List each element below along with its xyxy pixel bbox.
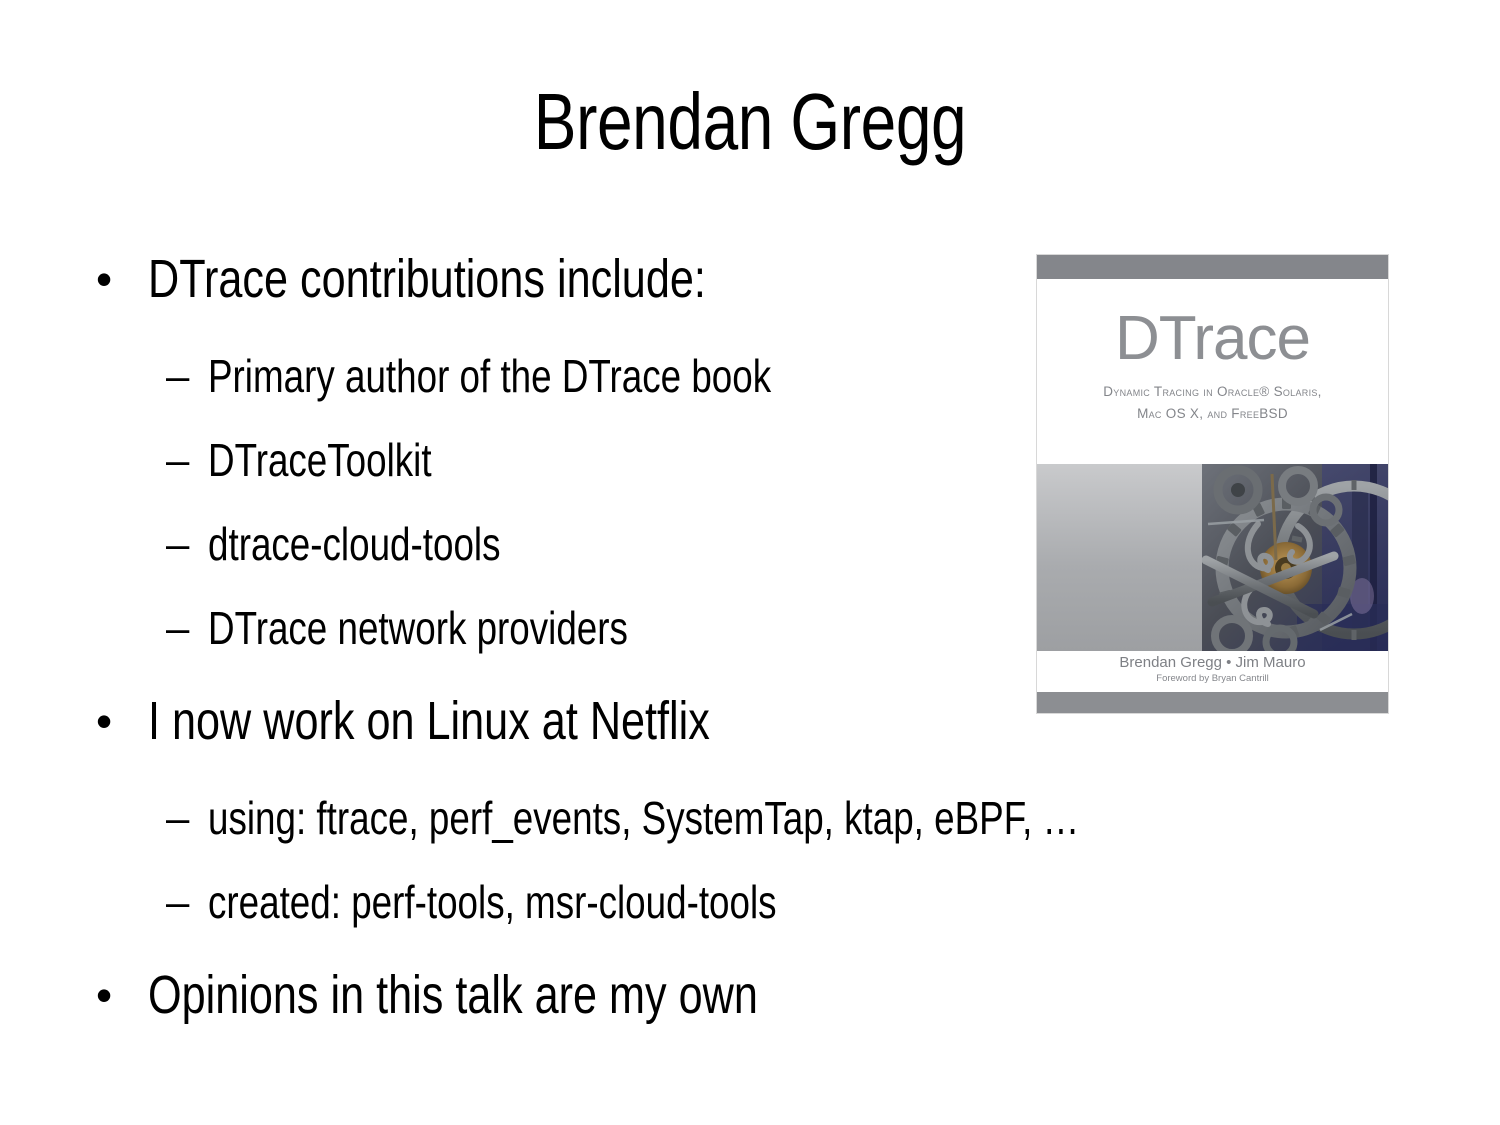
bullet-text: Primary author of the DTrace book <box>208 340 771 412</box>
book-cover-image: DTrace Dynamic Tracing in Oracle® Solari… <box>1037 255 1388 713</box>
bullet-text: using: ftrace, perf_events, SystemTap, k… <box>208 782 1079 854</box>
bullet-marker-dash: – <box>166 340 189 412</box>
bullet-marker-dash: – <box>166 782 189 854</box>
cover-top-band <box>1037 255 1388 279</box>
bullet-text: DTrace network providers <box>208 592 628 664</box>
bullet-marker-dash: – <box>166 508 189 580</box>
bullet-marker-dot: • <box>96 240 112 318</box>
bullet-marker-dash: – <box>166 424 189 496</box>
cover-foreword: Foreword by Bryan Cantrill <box>1037 673 1388 685</box>
bullet-text: created: perf-tools, msr-cloud-tools <box>208 866 777 938</box>
bullet-item-level2: – using: ftrace, perf_events, SystemTap,… <box>90 782 1410 854</box>
cover-title: DTrace <box>1037 307 1388 371</box>
bullet-text: DTrace contributions include: <box>148 240 706 318</box>
bullet-text: Opinions in this talk are my own <box>148 956 758 1034</box>
cover-bottom-band <box>1037 692 1388 713</box>
cover-authors: Brendan Gregg • Jim Mauro <box>1037 654 1388 672</box>
page-title: Brendan Gregg <box>150 74 1350 170</box>
bullet-text: dtrace-cloud-tools <box>208 508 501 580</box>
bullet-item-level1: • Opinions in this talk are my own <box>90 956 1410 1034</box>
bullet-text: I now work on Linux at Netflix <box>148 682 710 760</box>
bullet-item-level2: – created: perf-tools, msr-cloud-tools <box>90 866 1410 938</box>
cover-subtitle-line1: Dynamic Tracing in Oracle® Solaris, <box>1037 381 1388 403</box>
bullet-marker-dash: – <box>166 866 189 938</box>
bullet-text: DTraceToolkit <box>208 424 432 496</box>
cover-subtitle-line2: Mac OS X, and FreeBSD <box>1037 403 1388 425</box>
bullet-marker-dash: – <box>166 592 189 664</box>
clockwork-gears-icon <box>1202 464 1388 651</box>
bullet-marker-dot: • <box>96 682 112 760</box>
cover-subtitle: Dynamic Tracing in Oracle® Solaris, Mac … <box>1037 381 1388 425</box>
cover-photo-panel <box>1037 464 1388 651</box>
bullet-marker-dot: • <box>96 956 112 1034</box>
slide-canvas: Brendan Gregg • DTrace contributions inc… <box>0 0 1500 1125</box>
